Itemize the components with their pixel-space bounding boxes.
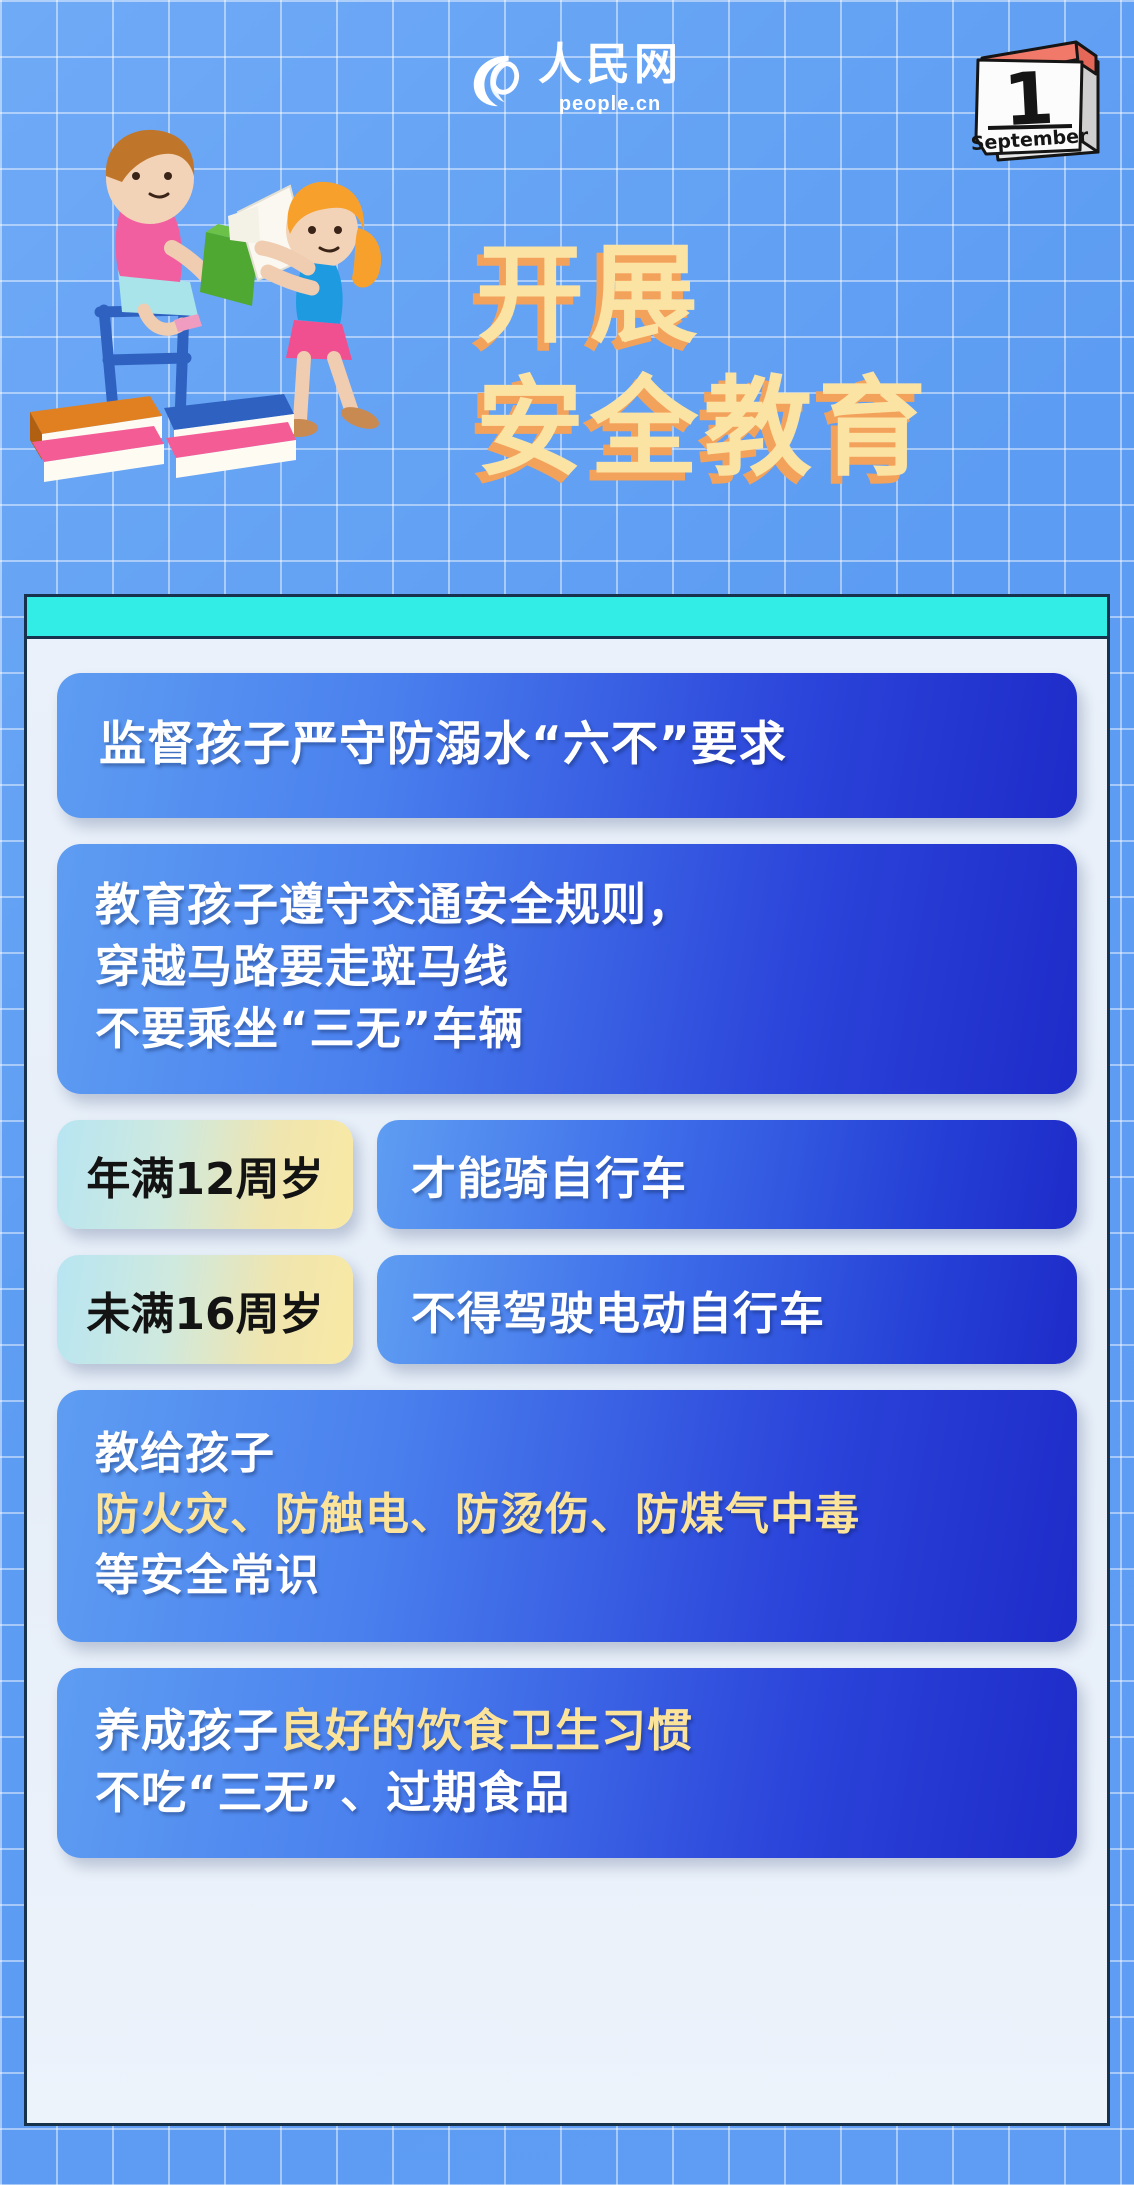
card-text-line: 教育孩子遵守交通安全规则，: [95, 874, 1043, 936]
age-rule-label: 才能骑自行车: [411, 1142, 687, 1207]
card-text-line: 养成孩子良好的饮食卫生习惯: [95, 1700, 1043, 1762]
card-text-line: 等安全常识: [95, 1546, 1053, 1607]
card-text-line: 教给孩子: [95, 1424, 1053, 1485]
card-text-line: 监督孩子严守防溺水“六不”要求: [99, 713, 1043, 778]
card-home-safety: 教给孩子 防火灾、防触电、防烫伤、防煤气中毒 等安全常识: [57, 1390, 1077, 1642]
age-rule-label: 不得驾驶电动自行车: [411, 1277, 825, 1342]
card-ebike-age: 未满16周岁 不得驾驶电动自行车: [57, 1255, 1077, 1364]
brand-logo: 人民网 people.cn: [424, 24, 724, 134]
content-panel: 监督孩子严守防溺水“六不”要求 教育孩子遵守交通安全规则， 穿越马路要走斑马线 …: [24, 594, 1110, 2126]
card-text-line-highlight: 防火灾、防触电、防烫伤、防煤气中毒: [95, 1485, 1053, 1546]
panel-body: 监督孩子严守防溺水“六不”要求 教育孩子遵守交通安全规则， 穿越马路要走斑马线 …: [27, 639, 1107, 1888]
calendar-icon: 1 September: [956, 28, 1106, 168]
card-food-hygiene: 养成孩子良好的饮食卫生习惯 不吃“三无”、过期食品: [57, 1668, 1077, 1858]
card-bicycle-age: 年满12周岁 才能骑自行车: [57, 1120, 1077, 1229]
age-condition-pill: 未满16周岁: [57, 1255, 353, 1364]
card-text-prefix: 养成孩子: [95, 1704, 279, 1757]
card-text-line: 穿越马路要走斑马线: [95, 936, 1043, 998]
people-cn-logo-icon: [466, 48, 528, 110]
children-reading-books-illustration: [22, 120, 422, 500]
age-rule-pill: 不得驾驶电动自行车: [377, 1255, 1077, 1364]
age-condition-pill: 年满12周岁: [57, 1120, 353, 1229]
card-traffic-safety: 教育孩子遵守交通安全规则， 穿越马路要走斑马线 不要乘坐“三无”车辆: [57, 844, 1077, 1094]
panel-top-accent-bar: [27, 597, 1107, 639]
age-condition-label: 年满12周岁: [86, 1143, 323, 1207]
poster-title: 开展 安全教育: [476, 232, 1096, 493]
card-text-highlight: 良好的饮食卫生习惯: [279, 1704, 693, 1757]
poster-header: 人民网 people.cn 1 September: [0, 0, 1134, 560]
poster-title-line2: 安全教育: [476, 365, 1096, 492]
brand-name-en: people.cn: [559, 93, 661, 116]
card-text-line: 不吃“三无”、过期食品: [95, 1762, 1043, 1824]
age-rule-pill: 才能骑自行车: [377, 1120, 1077, 1229]
card-drowning-prevention: 监督孩子严守防溺水“六不”要求: [57, 673, 1077, 818]
brand-name-cn: 人民网: [538, 43, 682, 87]
age-condition-label: 未满16周岁: [86, 1278, 323, 1342]
poster-title-line1: 开展: [476, 232, 1096, 359]
card-text-line: 不要乘坐“三无”车辆: [95, 998, 1043, 1060]
